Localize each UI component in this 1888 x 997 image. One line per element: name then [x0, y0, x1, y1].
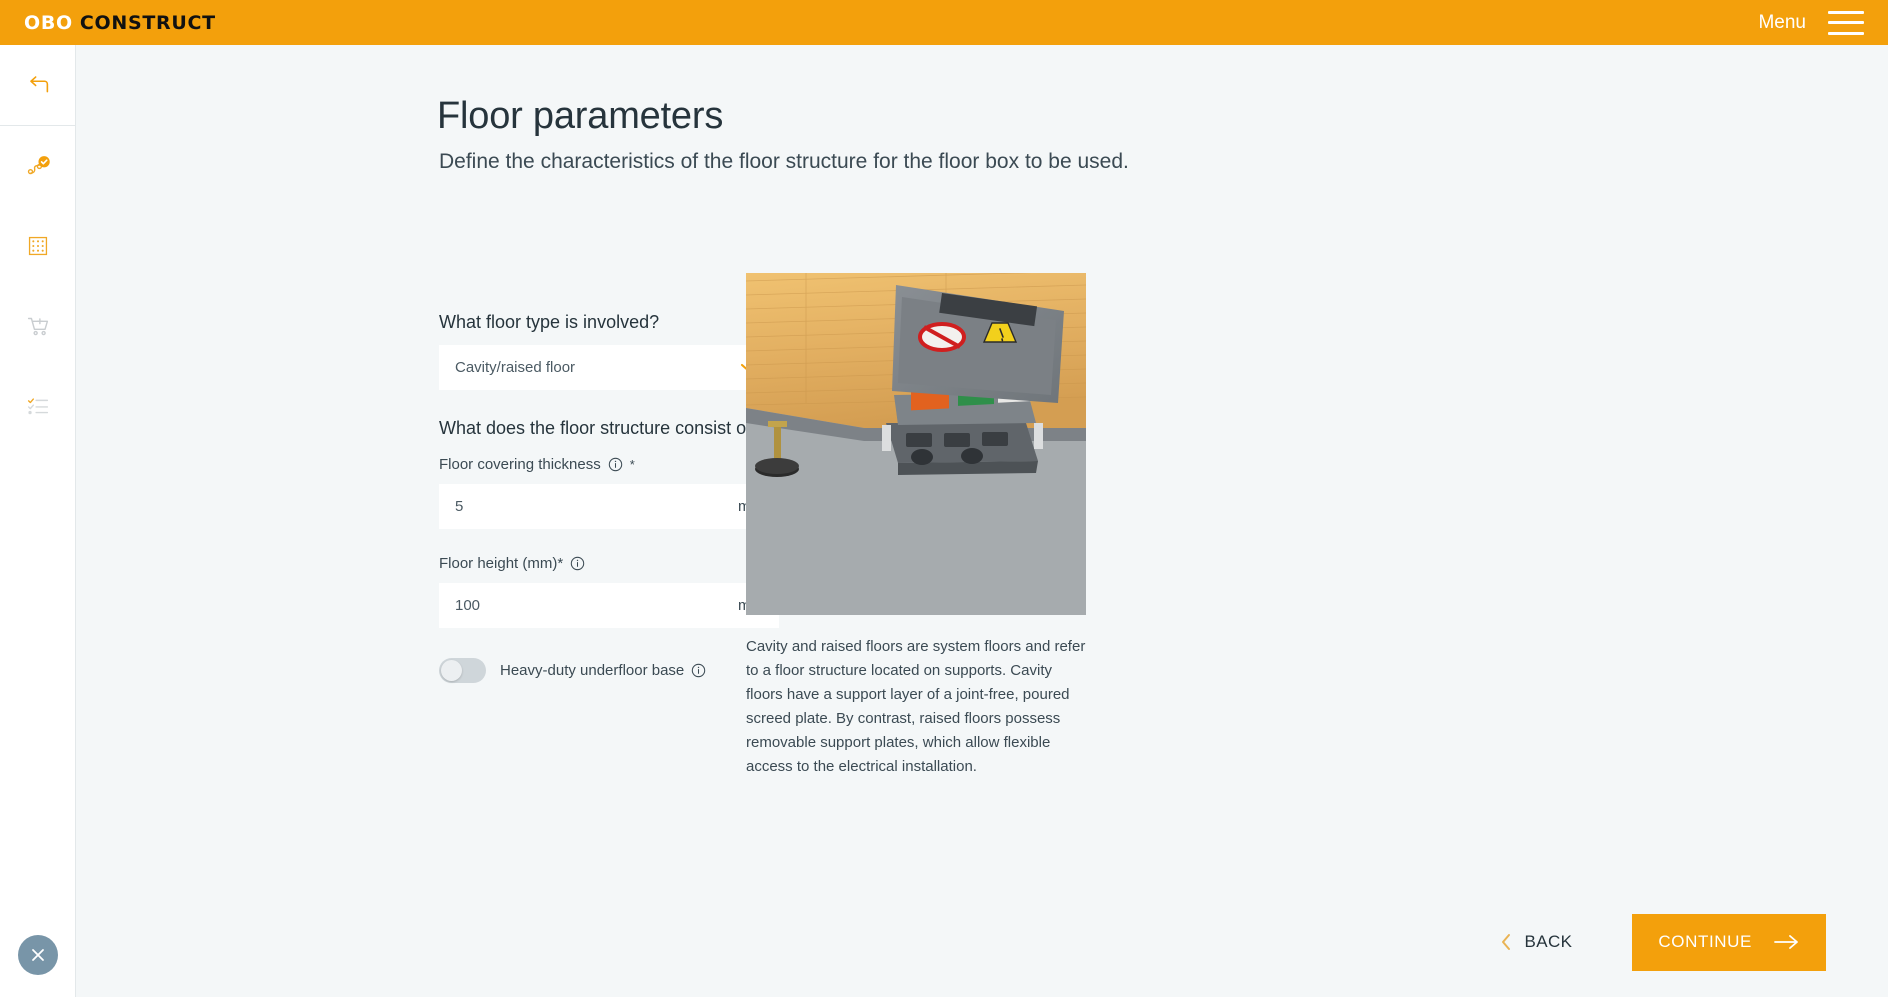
sidebar-item-back[interactable]	[0, 45, 76, 125]
continue-button[interactable]: CONTINUE	[1632, 914, 1826, 971]
arrow-right-icon	[1774, 934, 1800, 950]
floor-height-label: Floor height (mm)*	[439, 555, 779, 572]
left-sidebar	[0, 45, 76, 997]
floor-height-input[interactable]: 100 mm	[439, 583, 779, 628]
footer-actions: BACK CONTINUE	[76, 887, 1888, 997]
main-content: Floor parameters Define the characterist…	[76, 45, 1888, 997]
cart-plus-icon	[23, 311, 53, 341]
floor-covering-thickness-label-text: Floor covering thickness	[439, 456, 601, 473]
info-icon[interactable]	[570, 556, 585, 571]
top-bar: OBOCONSTRUCT Menu	[0, 0, 1888, 45]
logo-obo: OBO	[24, 12, 73, 34]
info-icon[interactable]	[608, 457, 623, 472]
floor-covering-thickness-label: Floor covering thickness *	[439, 456, 779, 473]
floor-covering-thickness-value: 5	[455, 498, 463, 515]
hamburger-bar	[1828, 32, 1864, 35]
floor-height-value: 100	[455, 597, 480, 614]
back-arrow-icon	[23, 70, 53, 100]
product-image	[746, 273, 1086, 615]
page-title: Floor parameters	[437, 95, 723, 138]
spacer	[439, 440, 779, 456]
sidebar-item-grid[interactable]	[0, 206, 76, 286]
page-subtitle: Define the characteristics of the floor …	[439, 150, 1129, 174]
back-button-label: BACK	[1525, 932, 1573, 952]
close-button[interactable]	[18, 935, 58, 975]
back-button[interactable]: BACK	[1477, 918, 1595, 966]
sidebar-item-cart[interactable]	[0, 286, 76, 366]
floor-type-select[interactable]: Cavity/raised floor	[439, 345, 779, 390]
floor-type-question: What floor type is involved?	[439, 310, 779, 334]
top-bar-right: Menu	[1758, 11, 1864, 35]
info-icon[interactable]	[691, 663, 706, 678]
hamburger-bar	[1828, 11, 1864, 14]
media-column: Cavity and raised floors are system floo…	[746, 273, 1086, 779]
heavy-duty-underfloor-base-toggle[interactable]	[439, 658, 486, 683]
toggle-knob	[441, 660, 462, 681]
continue-button-label: CONTINUE	[1658, 932, 1752, 952]
sidebar-item-configuration-completed[interactable]	[0, 126, 76, 206]
media-description: Cavity and raised floors are system floo…	[746, 635, 1088, 779]
hamburger-icon[interactable]	[1828, 11, 1864, 35]
checklist-icon	[23, 391, 53, 421]
spacer	[439, 390, 779, 416]
required-mark: *	[630, 457, 635, 472]
close-icon	[29, 946, 47, 964]
form-column: What floor type is involved? Cavity/rais…	[439, 310, 779, 683]
floor-covering-thickness-input[interactable]: 5 mm	[439, 484, 779, 529]
logo-construct: CONSTRUCT	[80, 12, 216, 34]
heavy-duty-underfloor-base-label-text: Heavy-duty underfloor base	[500, 662, 684, 679]
sidebar-item-checklist[interactable]	[0, 366, 76, 446]
spacer	[439, 529, 779, 555]
heavy-duty-underfloor-base-row: Heavy-duty underfloor base	[439, 658, 779, 683]
floor-type-selected-value: Cavity/raised floor	[455, 359, 575, 376]
menu-label[interactable]: Menu	[1758, 12, 1806, 34]
grid-dots-icon	[23, 231, 53, 261]
route-check-icon	[23, 151, 53, 181]
chevron-left-icon	[1499, 932, 1513, 952]
hamburger-bar	[1828, 21, 1864, 24]
floor-height-label-text: Floor height (mm)*	[439, 555, 563, 572]
structure-question: What does the floor structure consist of…	[439, 416, 779, 440]
heavy-duty-underfloor-base-label: Heavy-duty underfloor base	[500, 662, 706, 679]
brand-logo[interactable]: OBOCONSTRUCT	[24, 12, 216, 34]
